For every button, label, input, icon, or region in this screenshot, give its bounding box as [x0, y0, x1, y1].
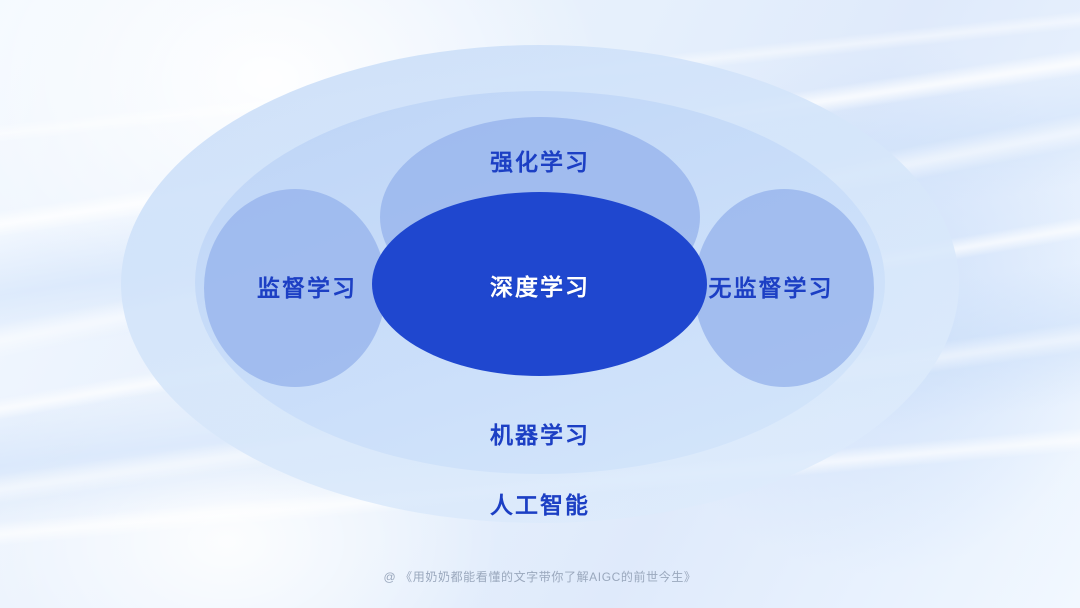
- diagram-canvas: 强化学习 监督学习 深度学习 无监督学习 机器学习 人工智能 @ 《用奶奶都能看…: [0, 0, 1080, 608]
- label-deep-learning: 深度学习: [490, 268, 590, 302]
- label-supervised-learning: 监督学习: [257, 269, 357, 303]
- footer-credit: @ 《用奶奶都能看懂的文字带你了解AIGC的前世今生》: [0, 568, 1080, 585]
- label-machine-learning: 机器学习: [490, 416, 590, 450]
- label-unsupervised-learning: 无监督学习: [709, 269, 834, 303]
- label-reinforcement-learning: 强化学习: [490, 143, 590, 177]
- label-artificial-intelligence: 人工智能: [490, 486, 590, 520]
